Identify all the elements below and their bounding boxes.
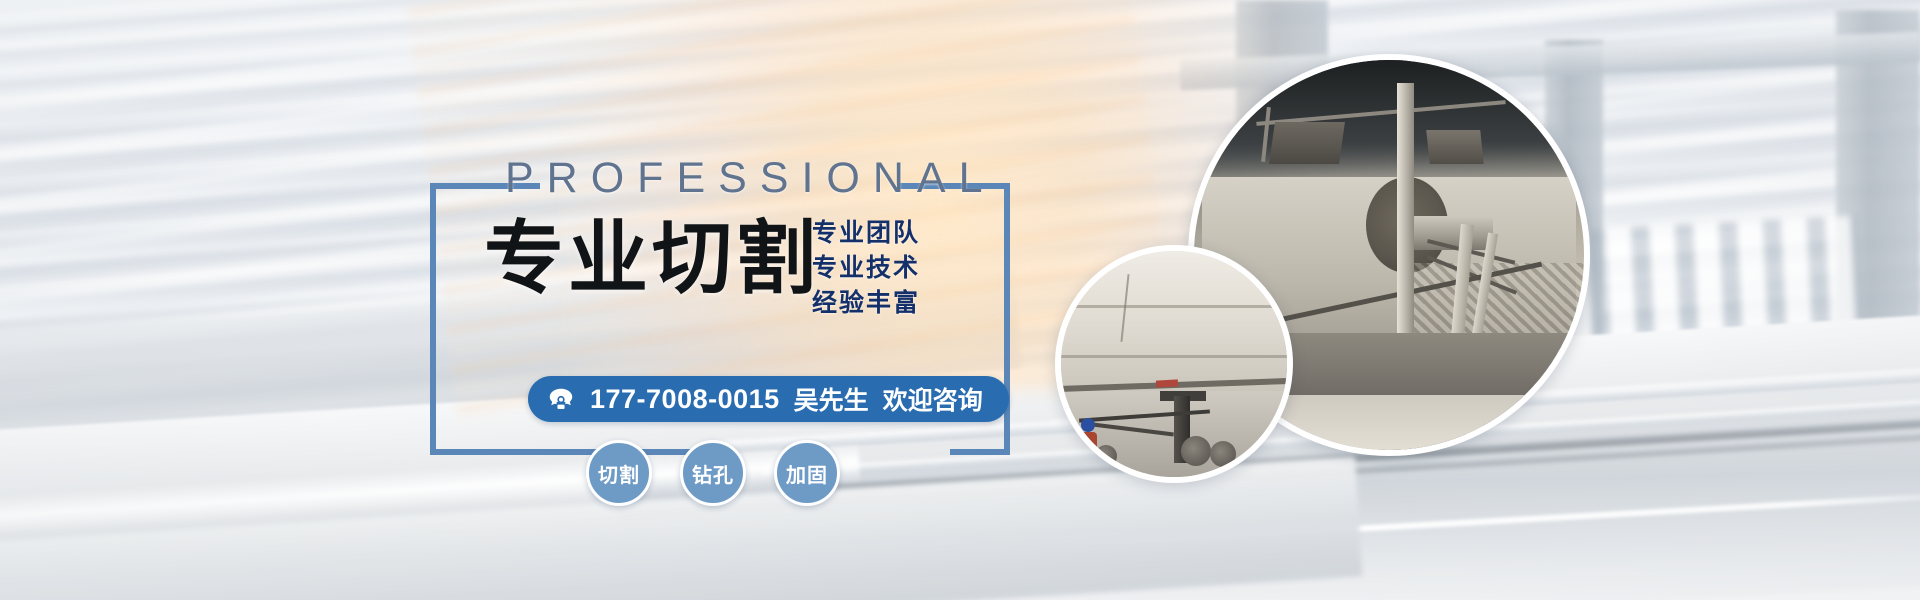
wall-seam <box>1061 355 1287 358</box>
feature-item: 专业技术 <box>812 253 920 283</box>
headline: 专业切割 <box>484 216 820 302</box>
service-tag-drilling[interactable]: 钻孔 <box>680 440 746 506</box>
job-site-cutting-photo <box>1055 245 1293 483</box>
promo-banner: PROFESSIONAL 专业切割 专业团队 专业技术 经验丰富 177-700… <box>0 0 1920 600</box>
contact-invite: 欢迎咨询 <box>883 381 983 417</box>
service-tag-reinforcement[interactable]: 加固 <box>774 440 840 506</box>
wall-seam <box>1061 305 1287 308</box>
photo-dark-ceiling <box>1194 60 1584 177</box>
photo-inner <box>1061 251 1287 477</box>
feature-item: 经验丰富 <box>812 288 920 318</box>
service-tag-cutting[interactable]: 切割 <box>586 440 652 506</box>
concrete-wall <box>1061 251 1287 391</box>
service-tag-list: 切割 钻孔 加固 <box>586 440 840 506</box>
blade-wheel <box>1210 441 1236 467</box>
worker-body <box>1079 432 1097 456</box>
contact-bar[interactable]: 177-7008-0015 吴先生 欢迎咨询 <box>528 376 1009 422</box>
machine-hopper <box>1426 130 1484 164</box>
feature-item: 专业团队 <box>812 218 920 248</box>
feature-list: 专业团队 专业技术 经验丰富 <box>812 218 920 318</box>
background-image <box>0 0 1920 600</box>
red-marker <box>1156 379 1178 387</box>
contact-name: 吴先生 <box>794 381 869 417</box>
phone-number: 177-7008-0015 <box>590 384 780 415</box>
eyebrow-text: PROFESSIONAL <box>505 154 996 203</box>
telephone-icon <box>546 384 576 414</box>
blade-wheel <box>1181 436 1211 466</box>
machine-hopper <box>1269 122 1345 164</box>
